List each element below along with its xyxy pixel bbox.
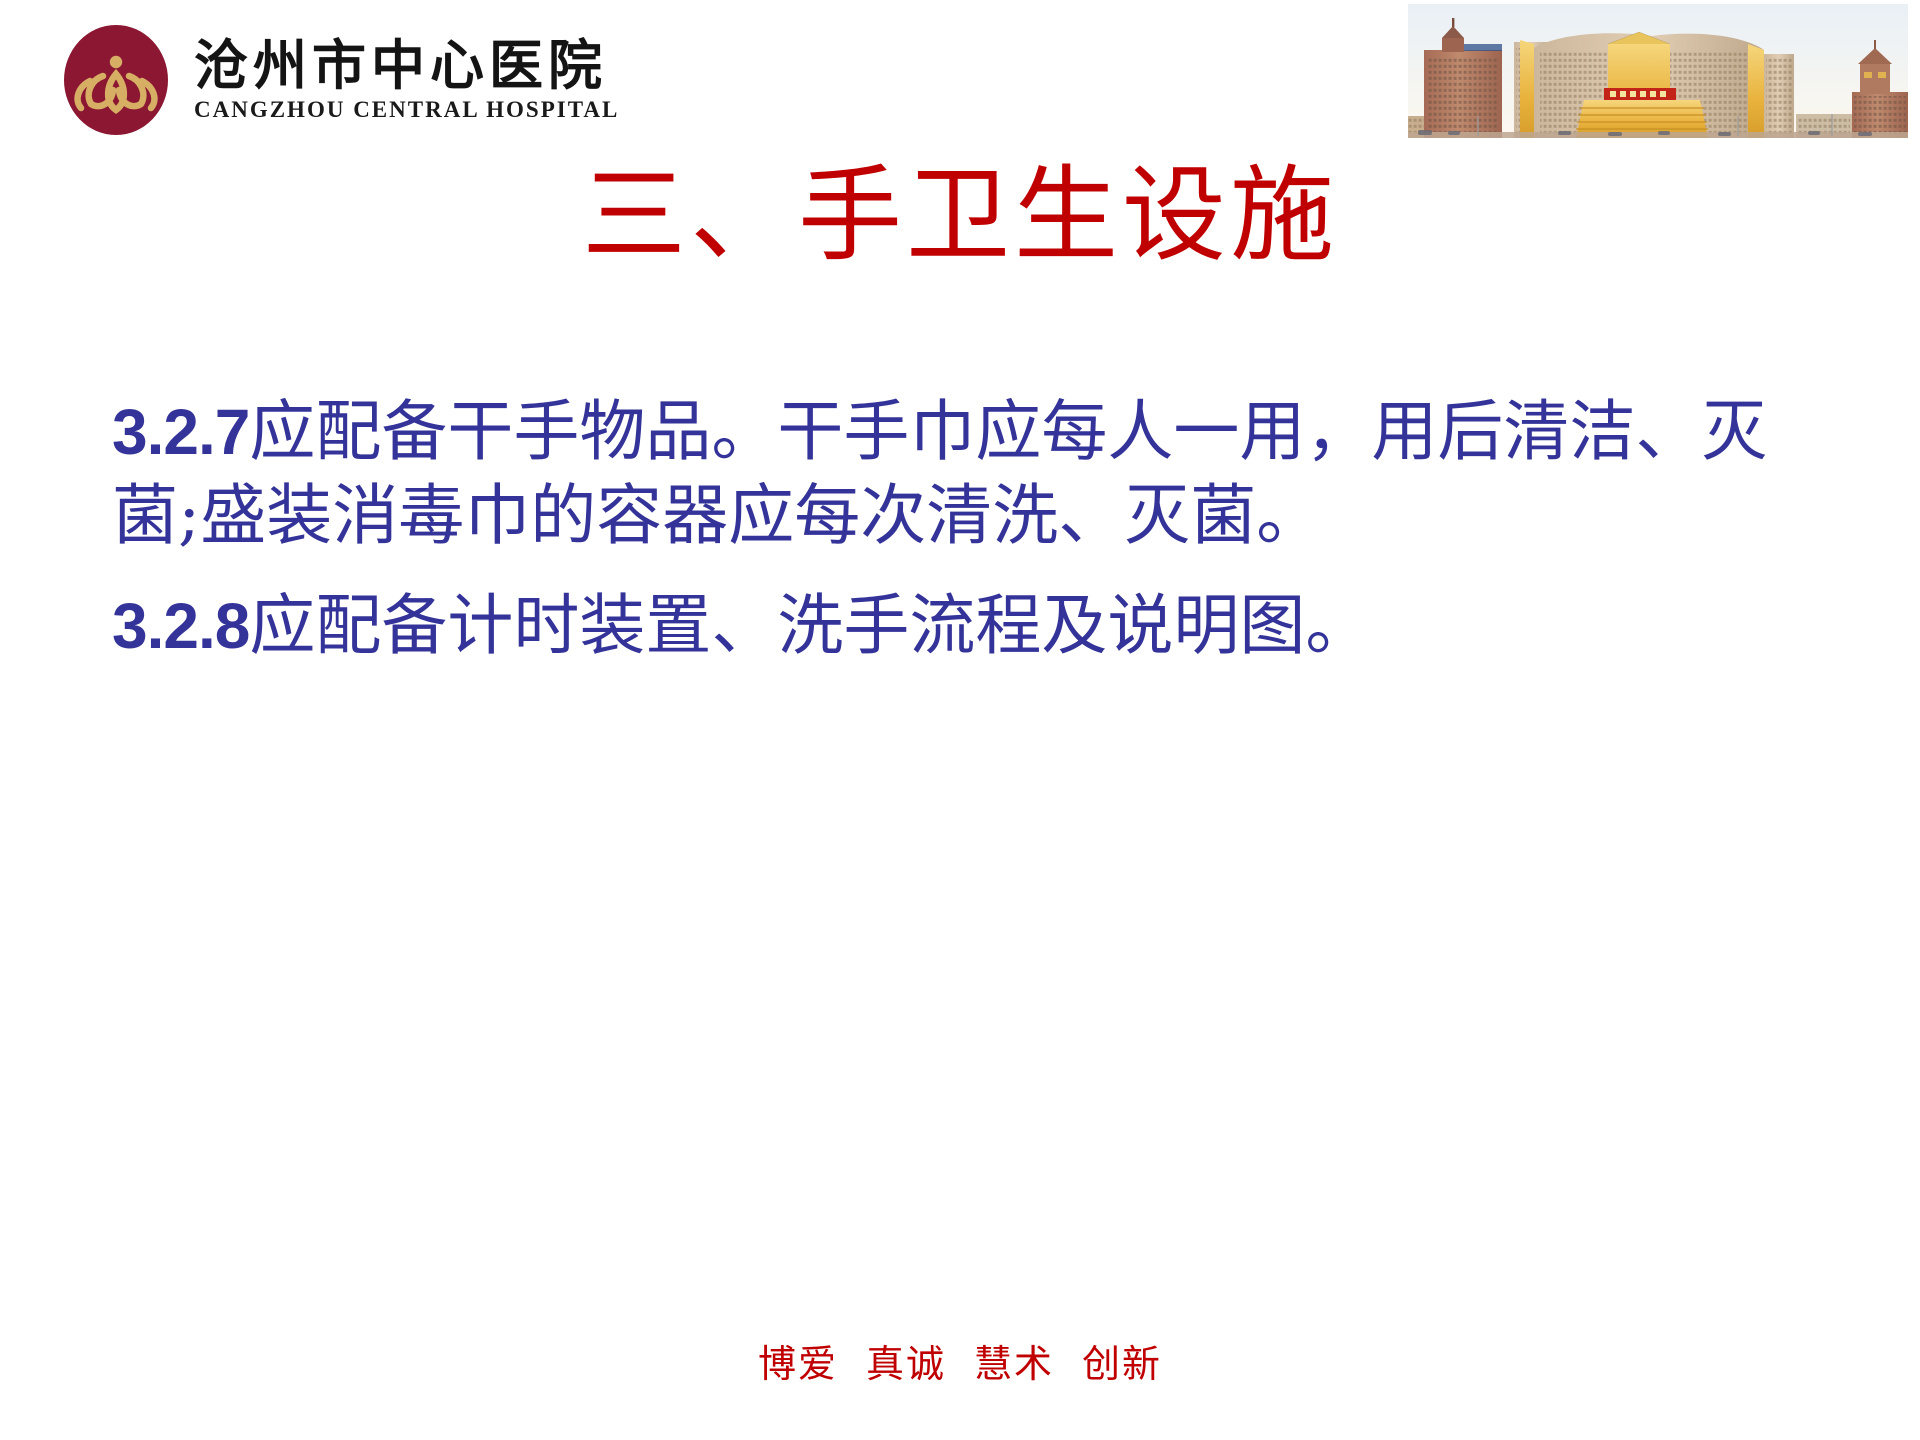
clause-text-328: 应配备计时装置、洗手流程及说明图。 (249, 587, 1371, 664)
clause-text-327: 应配备干手物品。干手巾应每人一用，用后清洁、灭菌;盛装消毒巾的容器应每次清洗、灭… (112, 393, 1767, 554)
hospital-building-photo (1408, 4, 1908, 138)
paragraph-327: 3.2.7应配备干手物品。干手巾应每人一用，用后清洁、灭菌;盛装消毒巾的容器应每… (112, 390, 1852, 558)
slogan-item-4: 创新 (1082, 1342, 1162, 1386)
hospital-logo: 沧州市中心医院 CANGZHOU CENTRAL HOSPITAL (60, 22, 619, 138)
clause-number-328: 3.2.8 (112, 590, 249, 662)
presentation-slide: 沧州市中心医院 CANGZHOU CENTRAL HOSPITAL (0, 0, 1920, 1440)
paragraph-328: 3.2.8应配备计时装置、洗手流程及说明图。 (112, 584, 1852, 668)
page-title: 三、手卫生设施 (0, 158, 1920, 272)
hospital-name-block: 沧州市中心医院 CANGZHOU CENTRAL HOSPITAL (194, 37, 619, 124)
hospital-name-cn: 沧州市中心医院 (194, 37, 619, 94)
slogan-item-3: 慧术 (974, 1342, 1054, 1386)
slide-footer-slogan: 博爱真诚慧术创新 (0, 1333, 1920, 1388)
slide-header: 沧州市中心医院 CANGZHOU CENTRAL HOSPITAL (0, 0, 1920, 170)
hospital-name-en: CANGZHOU CENTRAL HOSPITAL (194, 97, 619, 123)
slogan-item-1: 博爱 (758, 1342, 838, 1386)
lotus-emblem-icon (60, 24, 172, 136)
slogan-item-2: 真诚 (866, 1342, 946, 1386)
slide-body: 3.2.7应配备干手物品。干手巾应每人一用，用后清洁、灭菌;盛装消毒巾的容器应每… (112, 390, 1852, 668)
clause-number-327: 3.2.7 (112, 396, 249, 468)
